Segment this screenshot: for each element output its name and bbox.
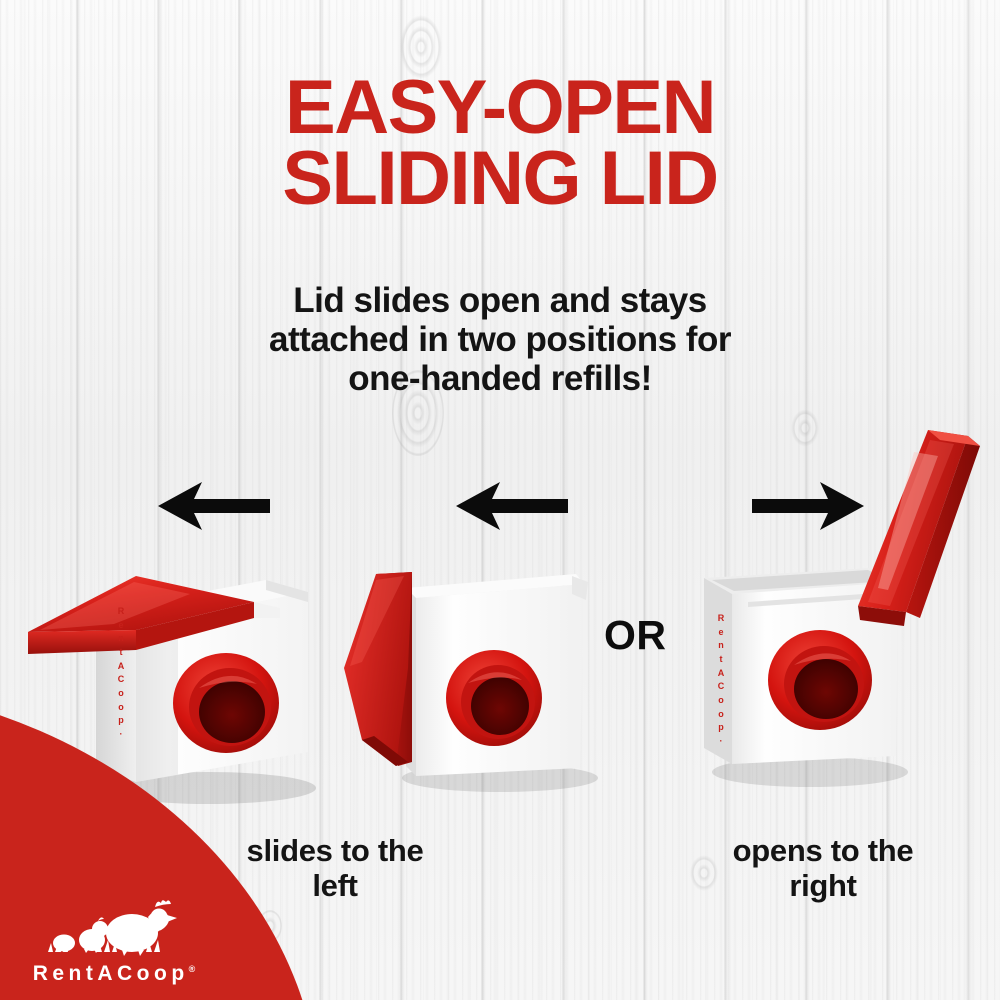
brand-letter: A bbox=[714, 667, 728, 681]
brand-letter: C bbox=[714, 680, 728, 694]
brand-label-vertical: R e n t A C o o p · bbox=[714, 612, 728, 749]
caption-opens-right-line-1: opens to the bbox=[678, 834, 968, 869]
brand-letter: A bbox=[114, 660, 128, 674]
brand-letter: R bbox=[114, 605, 128, 619]
brand-label-vertical: R e n t A C o o p · bbox=[114, 605, 128, 742]
brand-letter: o bbox=[714, 708, 728, 722]
page-subtitle-line-2: attached in two positions for bbox=[0, 320, 1000, 359]
caption-slides-left-line-2: left bbox=[190, 869, 480, 904]
brand-letter: t bbox=[114, 646, 128, 660]
registered-trademark-icon: ® bbox=[189, 964, 196, 974]
page-title-line-2: SLIDING LID bbox=[0, 143, 1000, 214]
caption-opens-right: opens to the right bbox=[678, 834, 968, 903]
page-subtitle: Lid slides open and stays attached in tw… bbox=[0, 281, 1000, 399]
brand-letter: t bbox=[714, 653, 728, 667]
brand-letter: · bbox=[114, 728, 128, 742]
or-separator-label: OR bbox=[604, 612, 667, 659]
brand-letter: o bbox=[714, 694, 728, 708]
caption-opens-right-line-2: right bbox=[678, 869, 968, 904]
page-subtitle-line-1: Lid slides open and stays bbox=[0, 281, 1000, 320]
brand-wordmark: RentACoop® bbox=[8, 962, 220, 986]
page-subtitle-line-3: one-handed refills! bbox=[0, 359, 1000, 398]
brand-letter: e bbox=[114, 619, 128, 633]
brand-letter: o bbox=[114, 687, 128, 701]
product-feeder-slides-left-partial: R e n t A C o o p · bbox=[18, 520, 338, 820]
infographic-canvas: EASY-OPEN SLIDING LID Lid slides open an… bbox=[0, 0, 1000, 1000]
brand-letter: R bbox=[714, 612, 728, 626]
brand-wordmark-text: RentACoop bbox=[33, 962, 189, 985]
brand-letter: n bbox=[714, 639, 728, 653]
brand-letter: e bbox=[714, 626, 728, 640]
product-feeder-slides-left-full bbox=[340, 540, 612, 802]
page-title: EASY-OPEN SLIDING LID bbox=[0, 72, 1000, 215]
arrow-left-second bbox=[456, 480, 568, 532]
brand-letter: n bbox=[114, 632, 128, 646]
brand-letter: · bbox=[714, 735, 728, 749]
caption-slides-left: slides to the left bbox=[190, 834, 480, 903]
hen-chick-egg-icon bbox=[8, 895, 220, 957]
brand-letter: p bbox=[714, 721, 728, 735]
caption-slides-left-line-1: slides to the bbox=[190, 834, 480, 869]
brand-letter: o bbox=[114, 701, 128, 715]
brand-letter: p bbox=[114, 714, 128, 728]
brand-logo: RentACoop® bbox=[8, 895, 220, 986]
brand-letter: C bbox=[114, 673, 128, 687]
product-feeder-opens-right: R e n t A C o o p · bbox=[692, 412, 984, 802]
page-title-line-1: EASY-OPEN bbox=[0, 72, 1000, 143]
